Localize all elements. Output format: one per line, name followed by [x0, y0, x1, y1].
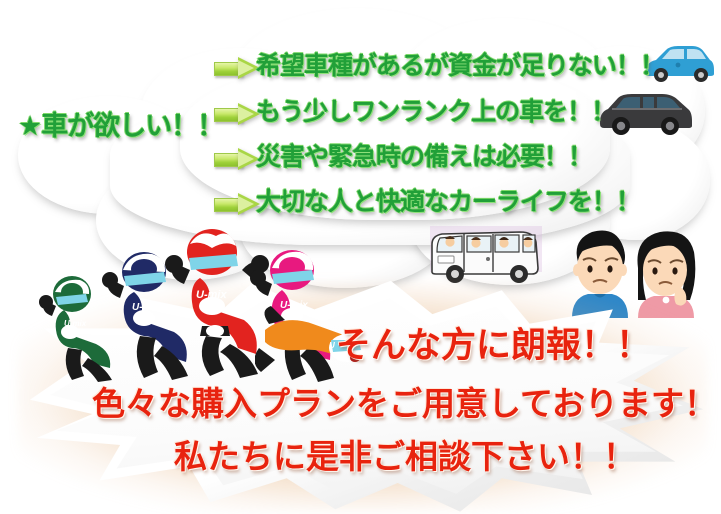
cloud-bullet-1: 希望車種があるが資金が足りない！！ — [256, 52, 664, 80]
svg-text:U-mix: U-mix — [196, 289, 227, 301]
green-arrow-icon — [214, 57, 260, 79]
svg-text:U-mix: U-mix — [132, 302, 160, 313]
banner-canvas: ★車が欲しい！！ 希望車種があるが資金が足りない！！ もう少しワンランク上の車を… — [0, 0, 721, 514]
cloud-headline: ★車が欲しい！！ — [18, 112, 223, 142]
svg-text:U-mix: U-mix — [64, 319, 87, 328]
burst-line-3: 私たちに是非ご相談下さい！！ — [174, 438, 636, 476]
green-arrow-icon — [214, 148, 260, 170]
burst-line-1: そんな方に朗報！！ — [336, 326, 651, 366]
cloud-bullet-3: 災害や緊急時の備えは必要！！ — [256, 143, 592, 171]
svg-text:U: U — [329, 341, 335, 350]
cloud-bullet-2: もう少しワンランク上の車を！！ — [256, 98, 615, 126]
cloud-bullet-4: 大切な人と快適なカーライフを！！ — [256, 188, 640, 216]
burst-line-2: 色々な購入プランをご用意しております！！ — [92, 385, 721, 423]
green-arrow-icon — [214, 193, 260, 215]
green-arrow-icon — [214, 103, 260, 125]
